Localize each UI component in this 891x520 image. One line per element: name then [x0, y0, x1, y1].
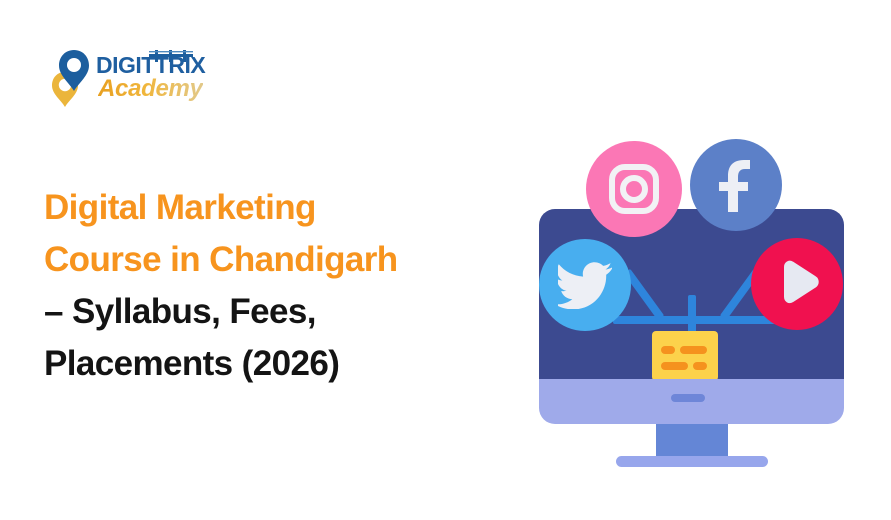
chat-bubble-line-1: [661, 346, 675, 354]
twitter-badge: [539, 239, 631, 331]
site-logo[interactable]: DIGITTRIX Academy: [52, 48, 232, 110]
chat-bubble-line-2: [680, 346, 707, 354]
page-title: Digital Marketing Course in Chandigarh –…: [44, 182, 524, 390]
logo-sub-text: Academy: [98, 75, 203, 103]
instagram-badge: [586, 141, 682, 237]
facebook-icon: [711, 156, 761, 214]
logo-wordmark: DIGITTRIX Academy: [96, 48, 236, 108]
monitor-brand-dash: [671, 394, 705, 402]
facebook-badge: [690, 139, 782, 231]
banner-root: DIGITTRIX Academy Digital Marketing Cour…: [0, 0, 891, 520]
chat-bubble-line-3: [661, 362, 688, 370]
bridge-tt-icon: [149, 50, 193, 62]
page-title-line-2: Course in Chandigarh: [44, 234, 524, 286]
twitter-icon: [558, 261, 612, 309]
play-icon: [773, 260, 821, 308]
page-title-line-1: Digital Marketing: [44, 182, 524, 234]
connector-line-horizontal: [613, 316, 785, 324]
page-title-line-4: Placements (2026): [44, 338, 524, 390]
chat-bubble-line-4: [693, 362, 707, 370]
instagram-icon: [607, 162, 661, 216]
social-media-monitor-illustration: [527, 135, 877, 480]
chat-bubble: [652, 331, 718, 381]
logo-pin-mark: [52, 50, 100, 108]
page-title-line-3: – Syllabus, Fees,: [44, 286, 524, 338]
youtube-badge: [751, 238, 843, 330]
monitor-stand-foot: [616, 456, 768, 467]
